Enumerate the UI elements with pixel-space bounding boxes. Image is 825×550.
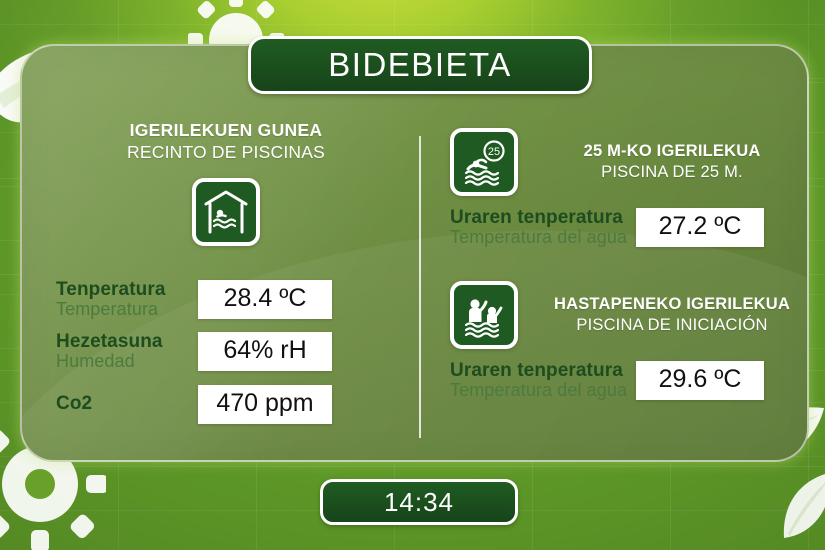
metric-label-eus: Co2 <box>56 394 198 414</box>
right-column: 25 25 M-KO IGERILEKUA PISCINA DE 25 M. <box>450 128 810 400</box>
pool-25m-heading: 25 M-KO IGERILEKUA PISCINA DE 25 M. <box>534 141 810 183</box>
left-heading-eus: IGERILEKUEN GUNEA <box>56 120 396 141</box>
column-divider <box>419 136 421 438</box>
metric-value-temperature: 28.4 ºC <box>198 280 332 319</box>
clock-time: 14:34 <box>384 487 454 518</box>
metric-row-temperature: Tenperatura Temperatura 28.4 ºC <box>56 280 396 319</box>
metric-label-es: Temperatura <box>56 300 198 319</box>
metric-labels: Uraren tenperatura Temperatura del agua <box>450 208 636 247</box>
pool-25m-badge-label: 25 <box>488 146 500 158</box>
pool-25m-header: 25 25 M-KO IGERILEKUA PISCINA DE 25 M. <box>450 128 810 196</box>
metric-row-co2: Co2 470 ppm <box>56 385 396 424</box>
pool-heading-es: PISCINA DE 25 M. <box>534 162 810 183</box>
metric-labels: Hezetasuna Humedad <box>56 332 198 371</box>
left-heading-es: RECINTO DE PISCINAS <box>56 141 396 164</box>
metric-label-es: Temperatura del agua <box>450 228 636 247</box>
left-metrics-list: Tenperatura Temperatura 28.4 ºC Hezetasu… <box>56 280 396 423</box>
metric-label-eus: Uraren tenperatura <box>450 361 636 381</box>
metric-value-water-temp-beginner: 29.6 ºC <box>636 361 764 400</box>
pool-heading-eus: HASTAPENEKO IGERILEKUA <box>534 294 810 315</box>
pool-beginner-header: HASTAPENEKO IGERILEKUA PISCINA DE INICIA… <box>450 281 810 349</box>
pool-heading-eus: 25 M-KO IGERILEKUA <box>534 141 810 162</box>
metric-label-eus: Tenperatura <box>56 280 198 300</box>
page-title: BIDEBIETA <box>328 46 511 84</box>
pool-beginner-heading: HASTAPENEKO IGERILEKUA PISCINA DE INICIA… <box>534 294 810 336</box>
pool-25m-icon: 25 <box>450 128 518 196</box>
signage-screen: BIDEBIETA IGERILEKUEN GUNEA RECINTO DE P… <box>0 0 825 550</box>
metric-label-eus: Uraren tenperatura <box>450 208 636 228</box>
metric-label-es: Temperatura del agua <box>450 381 636 400</box>
metric-label-eus: Hezetasuna <box>56 332 198 352</box>
metric-label-es: Humedad <box>56 352 198 371</box>
pool-heading-es: PISCINA DE INICIACIÓN <box>534 315 810 336</box>
metric-row-water-temp-beginner: Uraren tenperatura Temperatura del agua … <box>450 361 810 400</box>
left-icon-wrapper <box>56 178 396 246</box>
left-section-heading: IGERILEKUEN GUNEA RECINTO DE PISCINAS <box>56 120 396 164</box>
metric-row-humidity: Hezetasuna Humedad 64% rH <box>56 332 396 371</box>
metric-value-humidity: 64% rH <box>198 332 332 371</box>
beginner-pool-icon <box>450 281 518 349</box>
metric-value-water-temp-25m: 27.2 ºC <box>636 208 764 247</box>
header-title-box: BIDEBIETA <box>248 36 592 94</box>
left-column: IGERILEKUEN GUNEA RECINTO DE PISCINAS <box>56 120 396 437</box>
pool-block-beginner: HASTAPENEKO IGERILEKUA PISCINA DE INICIA… <box>450 281 810 400</box>
indoor-pool-icon <box>192 178 260 246</box>
metric-labels: Co2 <box>56 394 198 414</box>
clock-box: 14:34 <box>320 479 518 525</box>
metric-value-co2: 470 ppm <box>198 385 332 424</box>
pool-block-25m: 25 25 M-KO IGERILEKUA PISCINA DE 25 M. <box>450 128 810 247</box>
metric-labels: Uraren tenperatura Temperatura del agua <box>450 361 636 400</box>
metric-row-water-temp-25m: Uraren tenperatura Temperatura del agua … <box>450 208 810 247</box>
metric-labels: Tenperatura Temperatura <box>56 280 198 319</box>
